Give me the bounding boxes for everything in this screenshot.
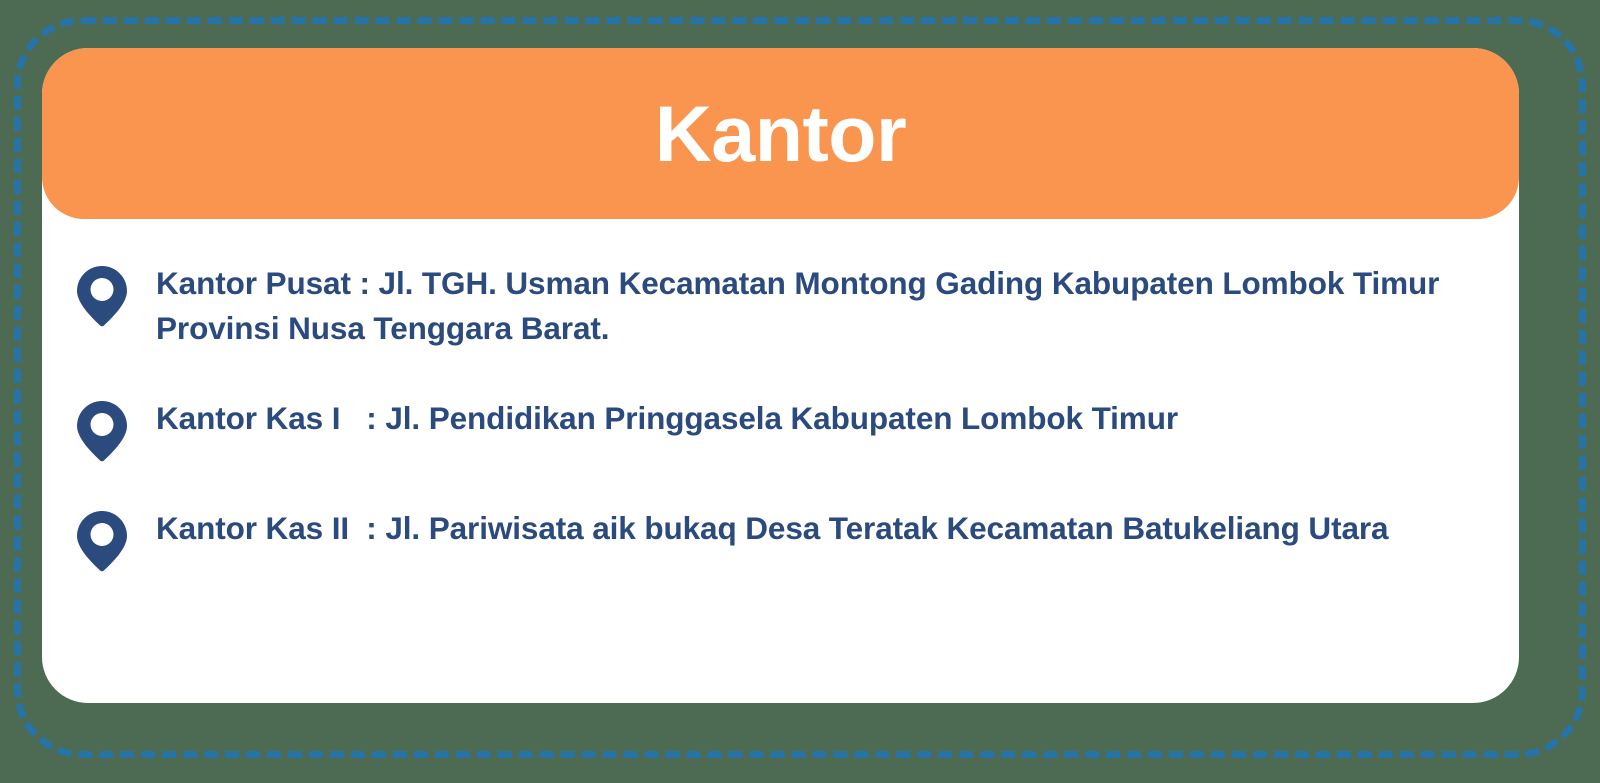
- map-pin-icon: [74, 265, 130, 327]
- address-text: Kantor Pusat : Jl. TGH. Usman Kecamatan …: [156, 261, 1446, 352]
- card-body: Kantor Pusat : Jl. TGH. Usman Kecamatan …: [42, 219, 1519, 572]
- map-pin-icon: [74, 510, 130, 572]
- address-text: Kantor Kas II : Jl. Pariwisata aik bukaq…: [156, 506, 1388, 551]
- list-item: Kantor Pusat : Jl. TGH. Usman Kecamatan …: [74, 261, 1459, 352]
- page-title: Kantor: [655, 94, 907, 173]
- address-list: Kantor Pusat : Jl. TGH. Usman Kecamatan …: [74, 261, 1459, 572]
- card-header: Kantor: [42, 48, 1519, 219]
- address-text: Kantor Kas I : Jl. Pendidikan Pringgasel…: [156, 396, 1178, 441]
- list-item: Kantor Kas II : Jl. Pariwisata aik bukaq…: [74, 506, 1459, 572]
- list-item: Kantor Kas I : Jl. Pendidikan Pringgasel…: [74, 396, 1459, 462]
- kantor-card: Kantor Kantor Pusat : Jl. TGH. Usman Kec…: [42, 48, 1519, 703]
- map-pin-icon: [74, 400, 130, 462]
